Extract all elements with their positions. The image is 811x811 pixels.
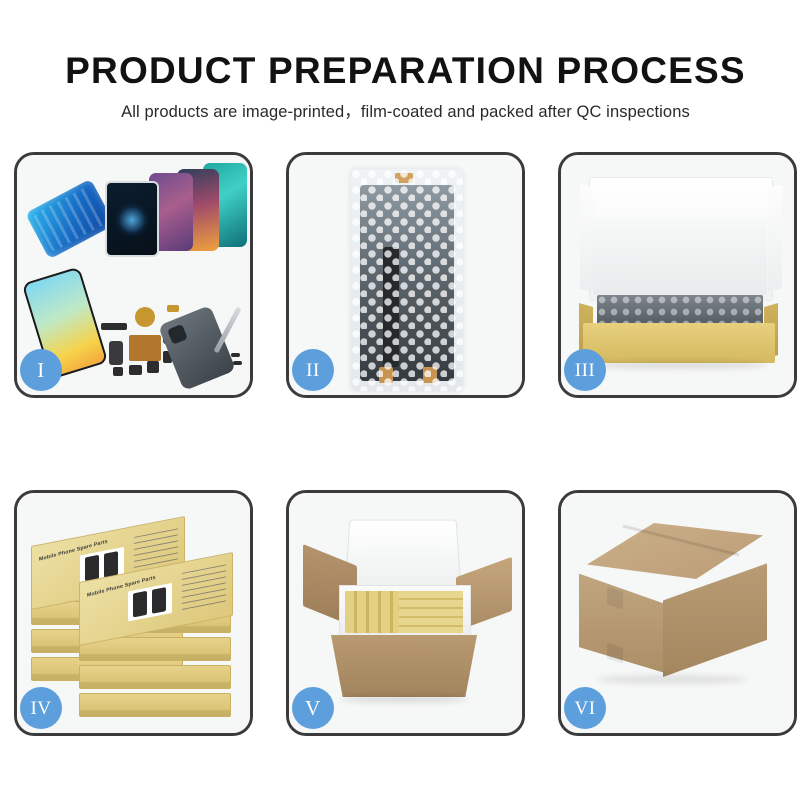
step-badge-1: I	[20, 349, 62, 391]
product-preparation-infographic: PRODUCT PREPARATION PROCESS All products…	[0, 0, 811, 811]
part-speaker-bar	[101, 323, 127, 330]
carton-shadow	[341, 695, 467, 703]
connector-left	[379, 367, 393, 383]
step-badge-6: VI	[564, 687, 606, 729]
flex-cable	[383, 247, 399, 367]
step-badge-2: II	[292, 349, 334, 391]
step-card-2[interactable]: II	[286, 152, 525, 398]
part-small-chip-b	[129, 365, 142, 375]
stacked-box-layer	[79, 693, 231, 717]
foam-lid	[344, 520, 461, 592]
box-shadow	[591, 361, 767, 369]
gold-box-front-panel	[583, 323, 775, 363]
box-stack: Mobile Phone Spare Parts Mobile Phone Sp…	[27, 517, 245, 717]
step-card-6[interactable]: VI	[558, 490, 797, 736]
blue-screen-protector-icon	[25, 179, 115, 260]
step-badge-5: V	[292, 687, 334, 729]
steps-grid: I II	[14, 152, 797, 736]
part-gold-connector	[167, 305, 179, 312]
part-screw-a	[231, 353, 240, 357]
page-title: PRODUCT PREPARATION PROCESS	[0, 0, 811, 89]
gold-boxes-row-b	[399, 591, 463, 633]
part-flex-cable-left	[109, 341, 123, 365]
phone-back-housing-icon	[158, 305, 236, 391]
part-circuit-board	[129, 335, 161, 361]
page-subtitle: All products are image-printed，film-coat…	[0, 89, 811, 121]
top-connector-tab	[395, 173, 413, 183]
step-badge-3: III	[564, 349, 606, 391]
white-foam-sheet	[593, 217, 767, 295]
part-small-chip-a	[113, 367, 123, 376]
screen-assembly	[360, 185, 454, 381]
step-card-3[interactable]: III	[558, 152, 797, 398]
carton-right-face	[663, 561, 767, 677]
carton-top-face	[587, 523, 763, 579]
part-gold-disc	[135, 307, 155, 327]
part-screw-b	[233, 361, 242, 365]
carton-shadow	[597, 675, 747, 684]
header: PRODUCT PREPARATION PROCESS All products…	[0, 0, 811, 121]
part-small-chip-c	[147, 361, 159, 373]
bubble-wrapped-items-row	[597, 295, 763, 325]
step-card-4[interactable]: Mobile Phone Spare Parts Mobile Phone Sp…	[14, 490, 253, 736]
step-card-5[interactable]: V	[286, 490, 525, 736]
step-card-1[interactable]: I	[14, 152, 253, 398]
step-badge-4: IV	[20, 687, 62, 729]
stacked-box-layer	[79, 665, 231, 689]
bubble-wrap-package	[351, 169, 463, 391]
carton-body	[331, 635, 477, 697]
black-display-panel-icon	[105, 181, 159, 257]
connector-right	[423, 367, 437, 383]
